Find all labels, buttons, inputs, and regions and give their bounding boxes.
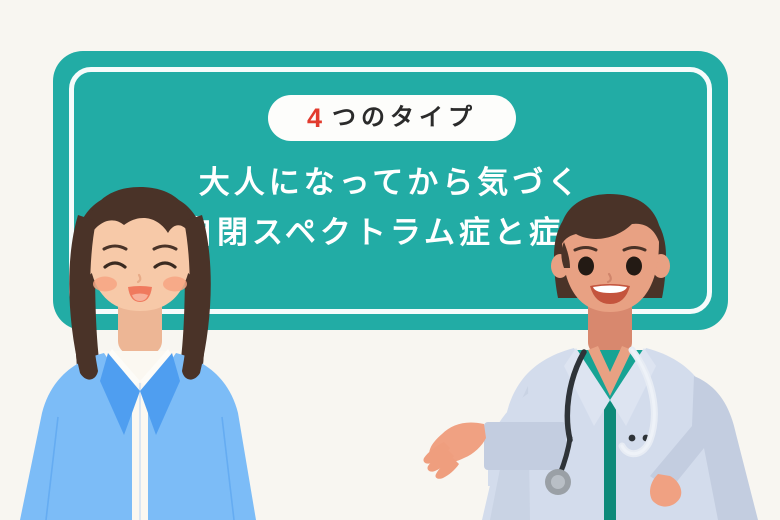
badge-label: つのタイプ	[332, 106, 477, 130]
character-doctor-right	[418, 190, 780, 520]
woman-illustration	[0, 185, 260, 520]
doctor-eye-left	[578, 257, 594, 276]
doctor-coat-button-1	[629, 435, 636, 442]
badge-number: 4	[307, 105, 325, 132]
poster-canvas: 4 つのタイプ 大人になってから気づく 自閉スペクトラム症と症状	[0, 0, 780, 520]
woman-blush-right	[163, 277, 187, 292]
doctor-hand-presenting	[423, 422, 486, 478]
doctor-illustration	[418, 190, 780, 520]
character-woman-left	[0, 185, 260, 520]
woman-blush-left	[93, 277, 117, 292]
stethoscope-chestpiece-inner	[551, 475, 565, 489]
badge-pill: 4 つのタイプ	[268, 95, 516, 141]
doctor-eye-right	[626, 257, 642, 276]
woman-neck	[118, 303, 162, 357]
doctor-sleeve-left	[484, 422, 566, 470]
